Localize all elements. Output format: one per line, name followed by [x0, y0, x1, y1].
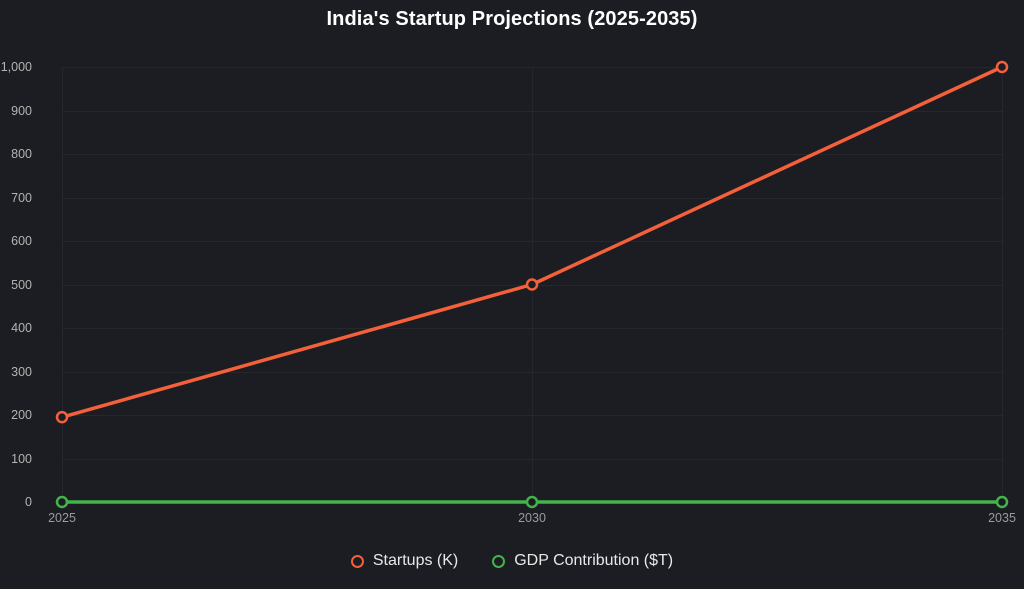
- data-point-marker[interactable]: [997, 497, 1007, 507]
- legend-item[interactable]: GDP Contribution ($T): [492, 552, 673, 570]
- y-axis-tick-label: 0: [0, 495, 32, 509]
- plot-area: 01002003004005006007008009001,000 202520…: [62, 67, 1002, 502]
- legend-circle-icon: [492, 555, 505, 568]
- series-line: [62, 67, 1002, 417]
- chart-screenshot: India's Startup Projections (2025-2035) …: [0, 0, 1024, 589]
- data-point-marker[interactable]: [527, 497, 537, 507]
- data-point-marker[interactable]: [527, 280, 537, 290]
- x-axis-tick-label: 2035: [988, 511, 1016, 525]
- series-group: [57, 62, 1007, 422]
- chart-title: India's Startup Projections (2025-2035): [0, 8, 1024, 31]
- y-axis-tick-label: 700: [0, 191, 32, 205]
- series-plot: [62, 67, 1002, 502]
- y-axis-tick-label: 200: [0, 408, 32, 422]
- y-axis-tick-label: 500: [0, 278, 32, 292]
- legend-item-label: GDP Contribution ($T): [514, 552, 673, 570]
- y-axis-tick-label: 400: [0, 321, 32, 335]
- series-group: [57, 497, 1007, 507]
- y-axis-tick-label: 600: [0, 234, 32, 248]
- x-axis-tick-label: 2030: [518, 511, 546, 525]
- data-point-marker[interactable]: [997, 62, 1007, 72]
- legend-circle-icon: [351, 555, 364, 568]
- y-axis-tick-label: 1,000: [0, 60, 32, 74]
- y-axis-tick-label: 800: [0, 147, 32, 161]
- legend-item[interactable]: Startups (K): [351, 552, 458, 570]
- y-axis-tick-label: 300: [0, 365, 32, 379]
- y-axis-tick-label: 100: [0, 452, 32, 466]
- data-point-marker[interactable]: [57, 412, 67, 422]
- gridline-vertical: [1002, 67, 1003, 502]
- x-axis-tick-label: 2025: [48, 511, 76, 525]
- chart-legend: Startups (K)GDP Contribution ($T): [0, 552, 1024, 570]
- y-axis-tick-label: 900: [0, 104, 32, 118]
- data-point-marker[interactable]: [57, 497, 67, 507]
- legend-item-label: Startups (K): [373, 552, 458, 570]
